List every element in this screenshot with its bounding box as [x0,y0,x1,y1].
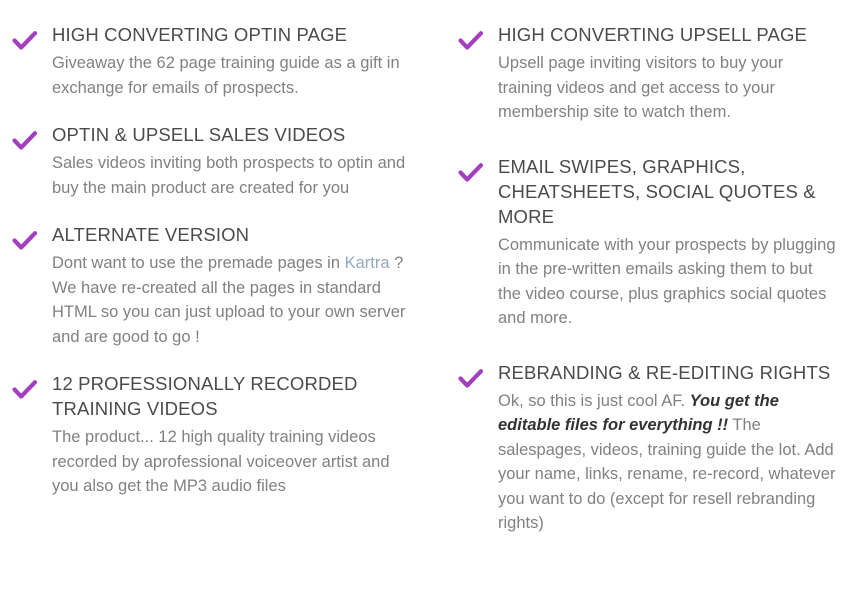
feature-item: HIGH CONVERTING OPTIN PAGE Giveaway the … [12,22,407,100]
feature-column-right: HIGH CONVERTING UPSELL PAGE Upsell page … [423,22,846,607]
feature-column-left: HIGH CONVERTING OPTIN PAGE Giveaway the … [0,22,423,607]
feature-item: REBRANDING & RE-EDITING RIGHTS Ok, so th… [458,360,838,536]
feature-body: REBRANDING & RE-EDITING RIGHTS Ok, so th… [498,360,838,536]
feature-description: Dont want to use the premade pages in Ka… [52,251,407,349]
feature-body: HIGH CONVERTING UPSELL PAGE Upsell page … [498,22,838,125]
feature-body: HIGH CONVERTING OPTIN PAGE Giveaway the … [52,22,407,100]
feature-item: OPTIN & UPSELL SALES VIDEOS Sales videos… [12,122,407,200]
feature-description: Upsell page inviting visitors to buy you… [498,51,838,125]
feature-item: ALTERNATE VERSION Dont want to use the p… [12,222,407,349]
feature-title: 12 PROFESSIONALLY RECORDED TRAINING VIDE… [52,371,407,421]
feature-title: EMAIL SWIPES, GRAPHICS, CHEATSHEETS, SOC… [498,154,838,229]
check-icon [458,30,484,52]
feature-description: Communicate with your prospects by plugg… [498,233,838,331]
description-text-part1: Dont want to use the premade pages in [52,254,345,272]
feature-item: EMAIL SWIPES, GRAPHICS, CHEATSHEETS, SOC… [458,154,838,331]
feature-item: HIGH CONVERTING UPSELL PAGE Upsell page … [458,22,838,125]
check-icon [458,368,484,390]
check-icon [12,379,38,401]
feature-body: ALTERNATE VERSION Dont want to use the p… [52,222,407,349]
check-icon [12,130,38,152]
feature-description: Sales videos inviting both prospects to … [52,151,407,200]
feature-body: 12 PROFESSIONALLY RECORDED TRAINING VIDE… [52,371,407,499]
feature-body: OPTIN & UPSELL SALES VIDEOS Sales videos… [52,122,407,200]
description-text-part1: Ok, so this is just cool AF. [498,392,690,410]
feature-description: The product... 12 high quality training … [52,425,407,499]
check-icon [12,230,38,252]
feature-title: HIGH CONVERTING UPSELL PAGE [498,22,838,47]
feature-description: Ok, so this is just cool AF. You get the… [498,389,838,536]
feature-item: 12 PROFESSIONALLY RECORDED TRAINING VIDE… [12,371,407,499]
feature-title: HIGH CONVERTING OPTIN PAGE [52,22,407,47]
feature-grid: HIGH CONVERTING OPTIN PAGE Giveaway the … [0,0,846,607]
check-icon [12,30,38,52]
feature-title: OPTIN & UPSELL SALES VIDEOS [52,122,407,147]
feature-body: EMAIL SWIPES, GRAPHICS, CHEATSHEETS, SOC… [498,154,838,331]
check-icon [458,162,484,184]
feature-description: Giveaway the 62 page training guide as a… [52,51,407,100]
feature-title: ALTERNATE VERSION [52,222,407,247]
feature-title: REBRANDING & RE-EDITING RIGHTS [498,360,838,385]
kartra-link[interactable]: Kartra [345,254,390,272]
